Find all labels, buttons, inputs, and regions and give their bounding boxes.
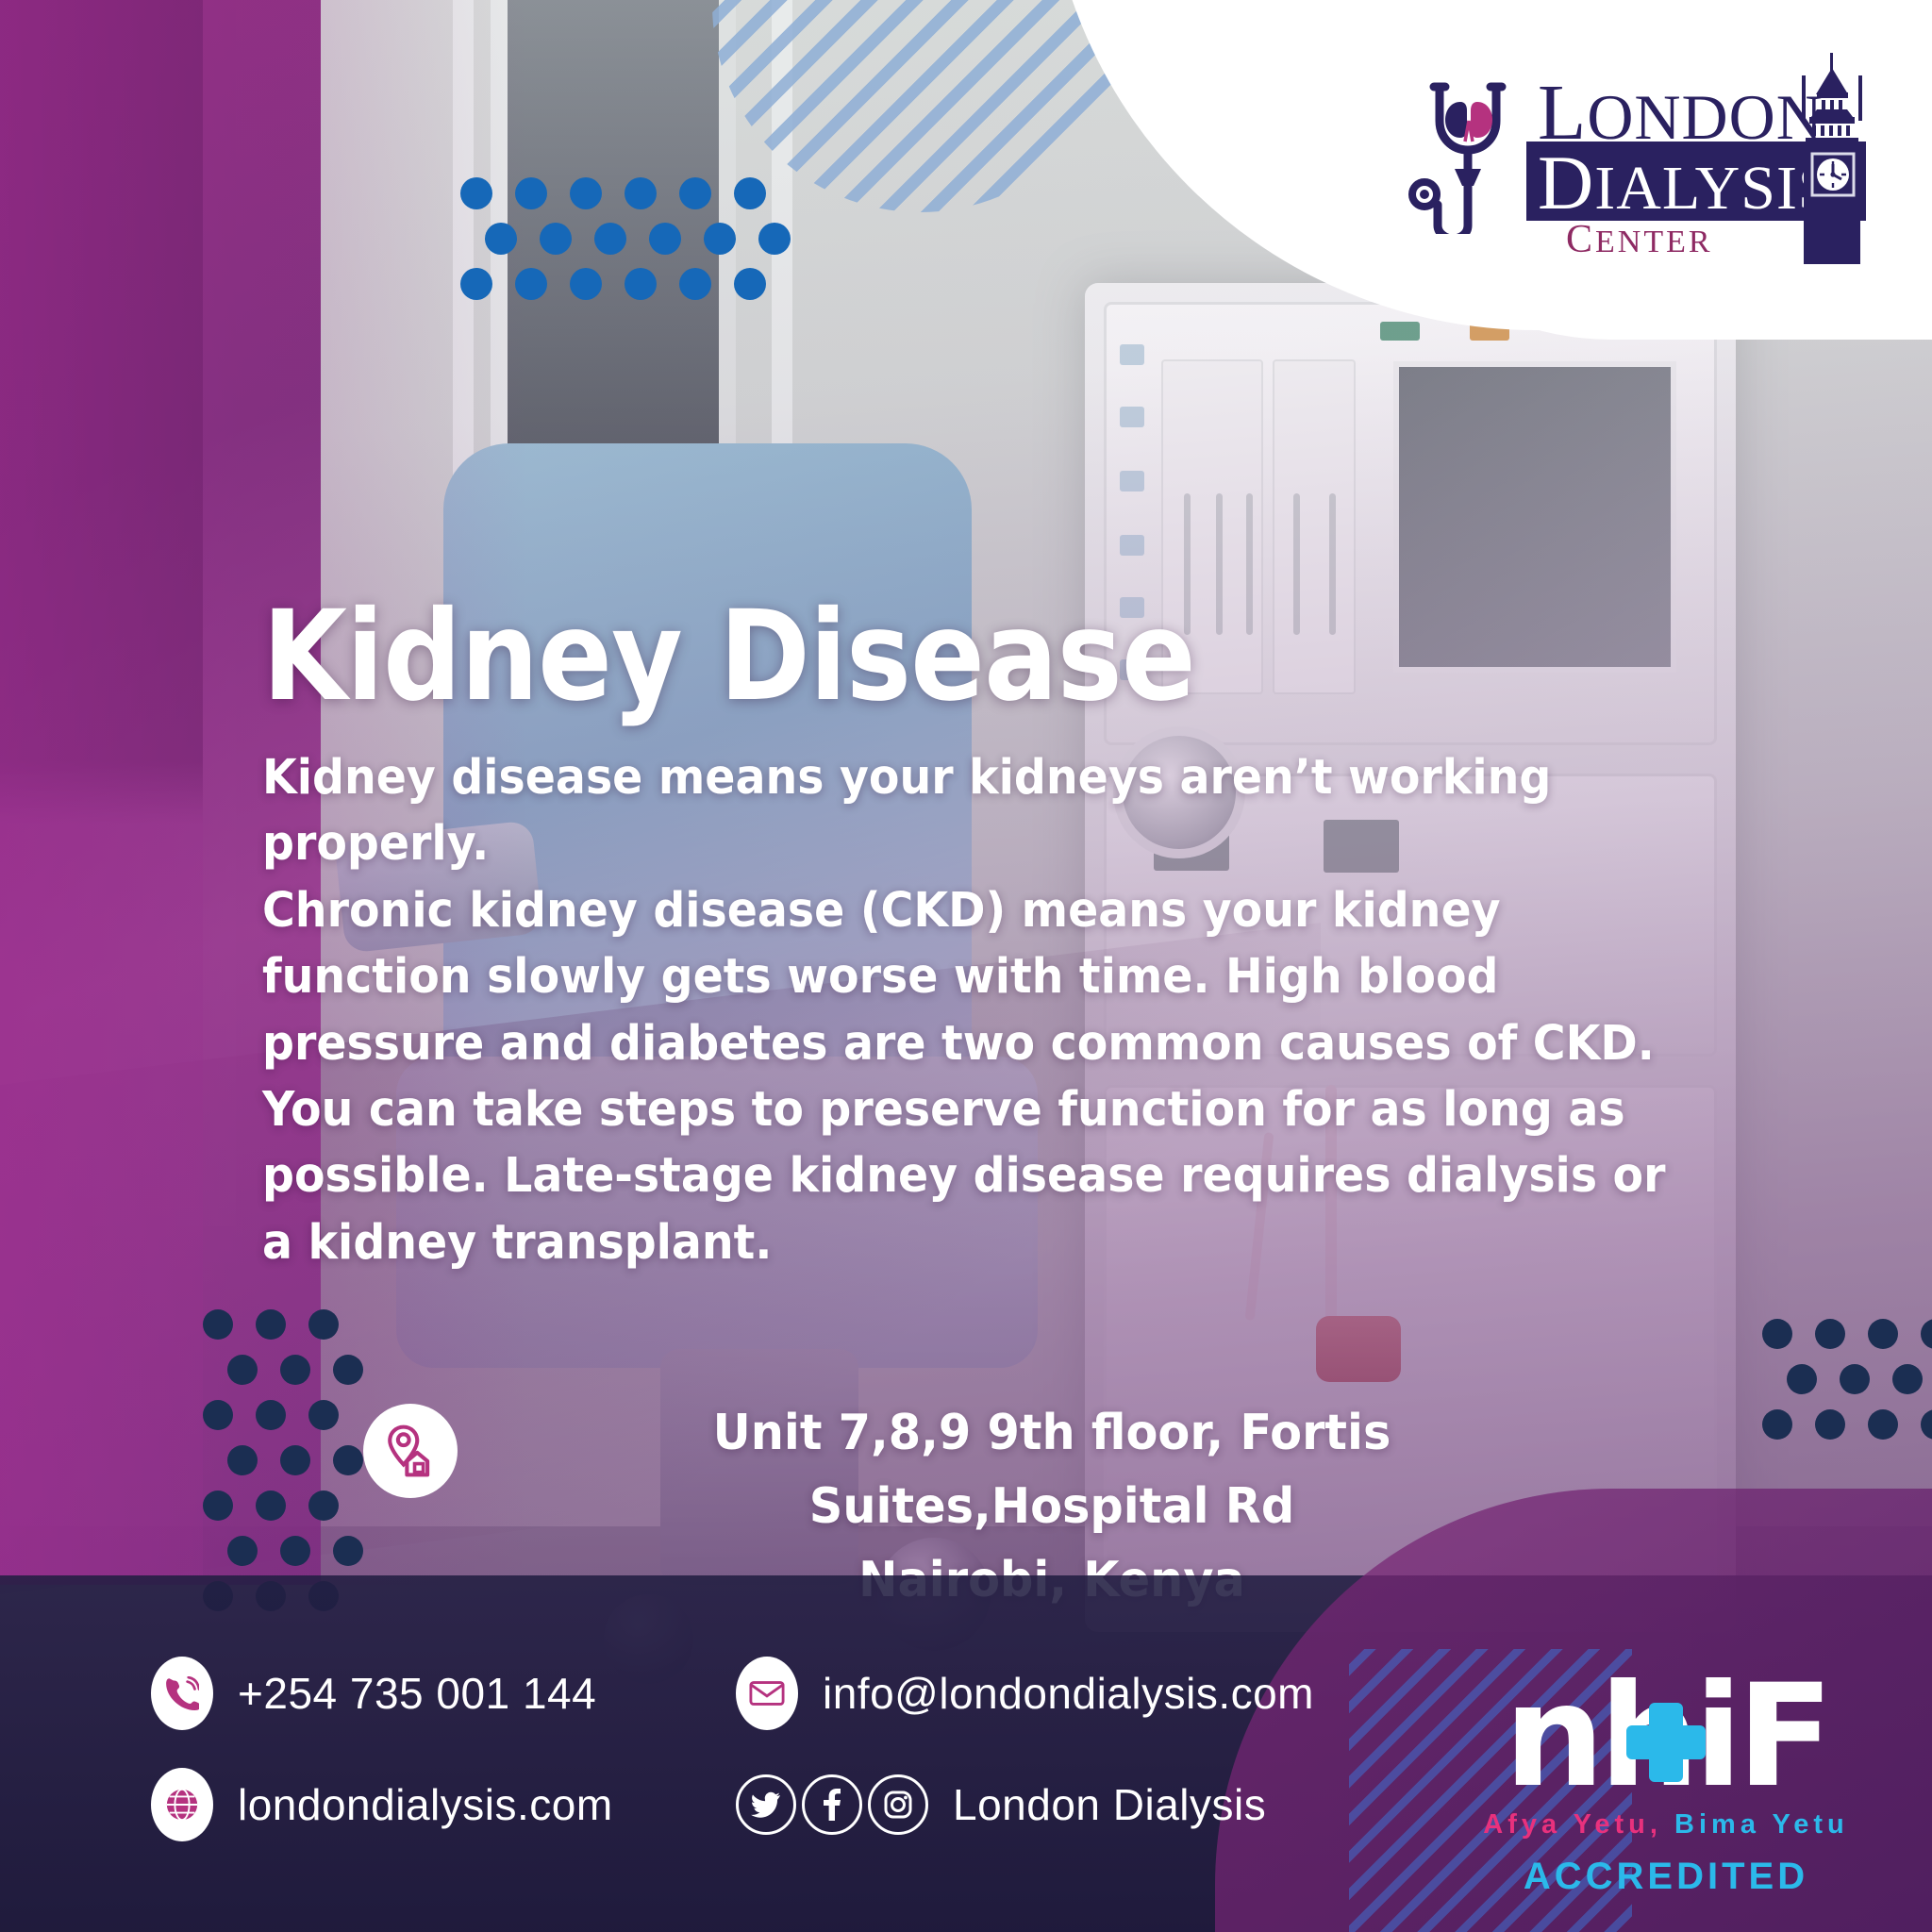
decorative-dot: [280, 1536, 310, 1566]
dot-grid-top-left: [460, 177, 789, 313]
decorative-dot: [227, 1536, 258, 1566]
decorative-dot: [256, 1309, 286, 1340]
decorative-dot: [515, 268, 547, 300]
nhif-accreditation-badge: nhiF Afya Yetu, Bima Yetu ACCREDITED: [1468, 1666, 1864, 1898]
facebook-icon[interactable]: [802, 1774, 862, 1835]
wordmark-center: CENTER: [1566, 217, 1713, 262]
dot-grid-bottom-right: [1762, 1319, 1932, 1455]
website-url: londondialysis.com: [238, 1779, 613, 1830]
decorative-dot: [256, 1400, 286, 1430]
contact-info-group: +254 735 001 144 info@londondialysis.com: [151, 1657, 1377, 1879]
decorative-dot: [1868, 1409, 1898, 1440]
decorative-dot: [570, 177, 602, 209]
decorative-dot: [203, 1400, 233, 1430]
decorative-dot: [308, 1400, 339, 1430]
nhif-logo-text: nhiF: [1504, 1666, 1827, 1807]
wordmark-center-cap: C: [1566, 218, 1595, 261]
decorative-dot: [649, 223, 681, 255]
decorative-dot: [203, 1491, 233, 1521]
decorative-dot: [1762, 1319, 1792, 1349]
decorative-dot: [1868, 1319, 1898, 1349]
decorative-dot: [1840, 1364, 1870, 1394]
contact-row-primary: +254 735 001 144 info@londondialysis.com: [151, 1657, 1377, 1730]
decorative-dot: [460, 268, 492, 300]
phone-number: +254 735 001 144: [238, 1668, 596, 1719]
decorative-dot: [1815, 1409, 1845, 1440]
social-handle: London Dialysis: [953, 1779, 1266, 1830]
phone-contact[interactable]: +254 735 001 144: [151, 1657, 736, 1730]
email-address: info@londondialysis.com: [823, 1668, 1314, 1719]
wordmark-dialysis-cap: D: [1538, 140, 1594, 225]
decorative-dot: [280, 1355, 310, 1385]
decorative-dot: [625, 177, 657, 209]
decorative-dot: [1787, 1364, 1817, 1394]
decorative-dot: [515, 177, 547, 209]
website-contact[interactable]: londondialysis.com: [151, 1768, 736, 1841]
decorative-dot: [333, 1355, 363, 1385]
nhif-letter-n: n: [1504, 1655, 1599, 1819]
decorative-dot: [1762, 1409, 1792, 1440]
decorative-dot: [256, 1491, 286, 1521]
twitter-icon[interactable]: [736, 1774, 796, 1835]
body-paragraph-3: You can take steps to preserve function …: [262, 1077, 1684, 1276]
decorative-dot: [594, 223, 626, 255]
decorative-dot: [280, 1445, 310, 1475]
decorative-dot: [203, 1309, 233, 1340]
decorative-dot: [625, 268, 657, 300]
poster-canvas: Kidney Disease Kidney disease means your…: [0, 0, 1932, 1932]
decorative-dot: [704, 223, 736, 255]
decorative-dot: [679, 268, 711, 300]
decorative-dot: [758, 223, 791, 255]
social-icon-group: [736, 1774, 928, 1835]
medical-cross-icon: [1621, 1669, 1711, 1810]
decorative-dot: [308, 1491, 339, 1521]
decorative-dot: [1892, 1364, 1923, 1394]
decorative-dot: [308, 1309, 339, 1340]
decorative-dot: [734, 177, 766, 209]
phone-icon: [151, 1657, 213, 1730]
decorative-dot: [1921, 1319, 1932, 1349]
decorative-dot: [460, 177, 492, 209]
decorative-dot: [679, 177, 711, 209]
decorative-dot: [540, 223, 572, 255]
page-title: Kidney Disease: [262, 594, 1195, 719]
decorative-dot: [570, 268, 602, 300]
stethoscope-kidney-icon: [1406, 74, 1526, 234]
email-contact[interactable]: info@londondialysis.com: [736, 1657, 1314, 1730]
decorative-dot: [227, 1445, 258, 1475]
footer-bar: +254 735 001 144 info@londondialysis.com: [0, 1575, 1932, 1932]
location-pin-icon: [363, 1404, 458, 1498]
decorative-dot: [1815, 1319, 1845, 1349]
decorative-dot: [734, 268, 766, 300]
social-contact: London Dialysis: [736, 1774, 1266, 1835]
body-copy: Kidney disease means your kidneys aren’t…: [262, 745, 1684, 1276]
body-paragraph-2: Chronic kidney disease (CKD) means your …: [262, 878, 1684, 1077]
brand-wordmark: LONDON DIALYSIS CENTER: [1526, 55, 1877, 248]
globe-icon: [151, 1768, 213, 1841]
decorative-dot: [333, 1536, 363, 1566]
big-ben-clock-tower-icon: [1783, 47, 1881, 264]
brand-logo[interactable]: LONDON DIALYSIS CENTER: [1406, 55, 1877, 248]
instagram-icon[interactable]: [868, 1774, 928, 1835]
email-icon: [736, 1657, 798, 1730]
decorative-dot: [333, 1445, 363, 1475]
nhif-letter-f: F: [1737, 1655, 1827, 1819]
decorative-dot: [1921, 1409, 1932, 1440]
nhif-accredited-label: ACCREDITED: [1468, 1856, 1864, 1898]
wordmark-center-rest: ENTER: [1595, 225, 1713, 259]
address-line-1: Unit 7,8,9 9th floor, Fortis Suites,Hosp…: [524, 1396, 1581, 1543]
body-paragraph-1: Kidney disease means your kidneys aren’t…: [262, 745, 1684, 878]
contact-row-secondary: londondialysis.com: [151, 1768, 1377, 1841]
decorative-dot: [227, 1355, 258, 1385]
decorative-dot: [485, 223, 517, 255]
